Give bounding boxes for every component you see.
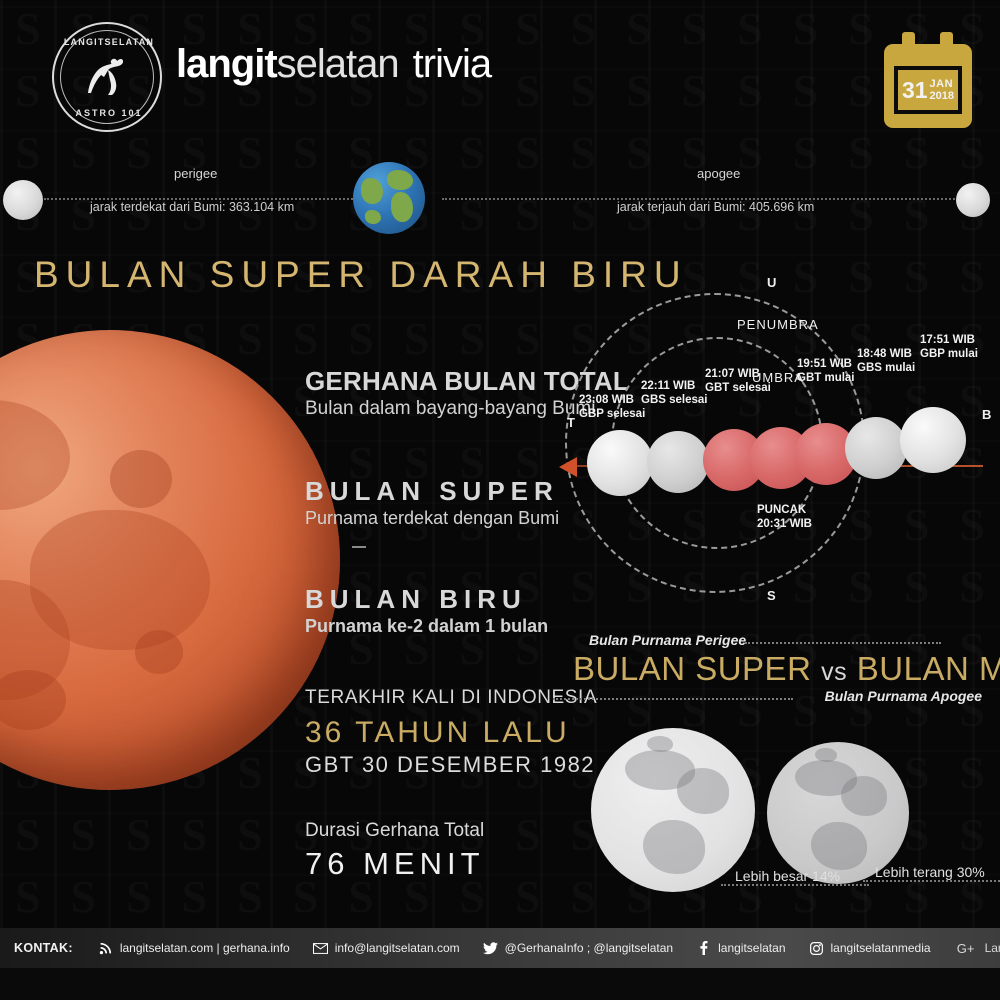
footer-item-twitter[interactable]: @GerhanaInfo ; @langitselatan: [482, 941, 673, 955]
phase-5-time: 18:48 WIB: [857, 347, 915, 361]
brand-trivia: trivia: [413, 42, 491, 86]
comparison-title-left: BULAN SUPER: [573, 650, 811, 687]
phase-moon-2: [647, 431, 709, 493]
penumbra-label: PENUMBRA: [737, 317, 819, 332]
comparison-title-right: BULAN MINI: [857, 650, 1000, 687]
mini-moon-circle: [767, 742, 909, 884]
size-note: Lebih besar 14%: [735, 868, 840, 884]
calendar-month: JAN: [930, 78, 954, 90]
direction-north: U: [767, 275, 776, 290]
footer-instagram-text: langitselatanmedia: [831, 941, 931, 955]
caption-bottom-line: [553, 698, 793, 700]
phase-moon-5: [845, 417, 907, 479]
duration-heading: Durasi Gerhana Total: [305, 820, 484, 842]
footer-contact-bar: KONTAK: langitselatan.com | gerhana.info…: [0, 928, 1000, 968]
brightness-note: Lebih terang 30%: [875, 864, 985, 880]
infographic-stage: LANGITSELATAN ASTRO 101 langitselatantri…: [0, 0, 1000, 1000]
footer-item-website[interactable]: langitselatan.com | gerhana.info: [97, 941, 290, 955]
instagram-icon: [808, 941, 825, 955]
envelope-icon: [312, 941, 329, 955]
caption-top-line: [745, 642, 941, 644]
calendar-year: 2018: [930, 90, 954, 102]
rss-icon: [97, 941, 114, 955]
header: LANGITSELATAN ASTRO 101 langitselatantri…: [0, 0, 1000, 148]
phase-label-5: 18:48 WIB GBS mulai: [857, 347, 915, 375]
phase-label-4: 19:51 WIB GBT mulai: [797, 357, 855, 385]
peak-label: PUNCAK 20:31 WIB: [757, 503, 812, 531]
perigee-moon-icon: [3, 180, 43, 220]
phase-label-1: 23:08 WIB GBP selesai: [579, 393, 645, 421]
fact-2-heading: BULAN SUPER: [305, 476, 559, 507]
footer-website-text: langitselatan.com | gerhana.info: [120, 941, 290, 955]
calendar-frame: 31 JAN 2018: [894, 66, 962, 114]
footer-item-googleplus[interactable]: G+ LangitselatanMedia: [953, 941, 1000, 955]
twitter-icon: [482, 941, 499, 955]
peak-time: 20:31 WIB: [757, 517, 812, 531]
direction-west: B: [982, 407, 991, 422]
phase-moon-1: [587, 430, 653, 496]
footer-facebook-text: langitselatan: [718, 941, 785, 955]
brand-wordmark: langitselatantrivia: [176, 42, 491, 87]
size-note-line: [721, 884, 869, 886]
calendar-icon: 31 JAN 2018: [884, 32, 972, 128]
duration-value: 76 MENIT: [305, 846, 485, 882]
googleplus-icon: G+: [953, 941, 979, 955]
phase-2-time: 22:11 WIB: [641, 379, 707, 393]
eclipse-path-diagram: U S T B PENUMBRA UMBRA 23:08 WIB GBP sel…: [545, 275, 1000, 625]
logo-top-text: LANGITSELATAN: [54, 37, 164, 47]
langitselatan-logo: LANGITSELATAN ASTRO 101: [52, 22, 162, 132]
perigee-distance: jarak terdekat dari Bumi: 363.104 km: [90, 200, 294, 214]
calendar-body: 31 JAN 2018: [884, 44, 972, 128]
phase-1-event: GBP selesai: [579, 407, 645, 421]
direction-east: T: [567, 415, 575, 430]
phase-label-2: 22:11 WIB GBS selesai: [641, 379, 707, 407]
fact-3-sub: Purnama ke-2 dalam 1 bulan: [305, 616, 548, 637]
footer-item-email[interactable]: info@langitselatan.com: [312, 941, 460, 955]
calendar-day: 31: [902, 79, 928, 102]
footer-item-facebook[interactable]: langitselatan: [695, 941, 785, 955]
footer-bottom-strip: [0, 968, 1000, 1000]
apogee-moon-icon: [956, 183, 990, 217]
perigee-label: perigee: [174, 166, 217, 181]
last-event-highlight: 36 TAHUN LALU: [305, 716, 570, 750]
perigee-caption: Bulan Purnama Perigee: [589, 632, 746, 648]
divider-dash: [352, 546, 366, 548]
footer-twitter-text: @GerhanaInfo ; @langitselatan: [505, 941, 673, 955]
calendar-screen: 31 JAN 2018: [898, 70, 958, 110]
phase-5-event: GBS mulai: [857, 361, 915, 375]
super-vs-mini-section: Bulan Purnama Perigee BULAN SUPER vs BUL…: [545, 632, 1000, 897]
phase-4-time: 19:51 WIB: [797, 357, 855, 371]
phase-label-6: 17:51 WIB GBP mulai: [920, 333, 978, 361]
footer-googleplus-text: LangitselatanMedia: [985, 941, 1000, 955]
logo-bottom-text: ASTRO 101: [54, 108, 164, 118]
phase-2-event: GBS selesai: [641, 393, 707, 407]
phase-label-3: 21:07 WIB GBT selesai: [705, 367, 771, 395]
footer-email-text: info@langitselatan.com: [335, 941, 460, 955]
horse-rider-icon: [81, 53, 133, 101]
comparison-title: BULAN SUPER vs BULAN MINI: [573, 650, 1000, 688]
brightness-note-line: [863, 880, 1000, 882]
phase-moon-6: [900, 407, 966, 473]
super-moon-circle: [591, 728, 755, 892]
earth-icon: [353, 162, 425, 234]
phase-4-event: GBT mulai: [797, 371, 855, 385]
direction-arrow-icon: [559, 457, 577, 477]
direction-south: S: [767, 588, 776, 603]
brand-bold: langit: [176, 42, 277, 86]
apogee-distance: jarak terjauh dari Bumi: 405.696 km: [617, 200, 814, 214]
apogee-label: apogee: [697, 166, 740, 181]
fact-3-heading: BULAN BIRU: [305, 584, 527, 615]
phase-1-time: 23:08 WIB: [579, 393, 645, 407]
fact-2-sub: Purnama terdekat dengan Bumi: [305, 508, 559, 529]
calendar-month-year: JAN 2018: [930, 78, 954, 102]
brand-light: selatan: [277, 42, 399, 86]
footer-item-instagram[interactable]: langitselatanmedia: [808, 941, 931, 955]
comparison-vs: vs: [821, 658, 847, 686]
phase-3-time: 21:07 WIB: [705, 367, 771, 381]
phase-6-event: GBP mulai: [920, 347, 978, 361]
facebook-icon: [695, 941, 712, 955]
phase-3-event: GBT selesai: [705, 381, 771, 395]
orbit-distance-band: [0, 158, 1000, 238]
apogee-caption: Bulan Purnama Apogee: [825, 688, 982, 704]
contact-label: KONTAK:: [14, 941, 73, 955]
peak-text: PUNCAK: [757, 503, 812, 517]
phase-6-time: 17:51 WIB: [920, 333, 978, 347]
blood-moon-image: [0, 330, 340, 790]
